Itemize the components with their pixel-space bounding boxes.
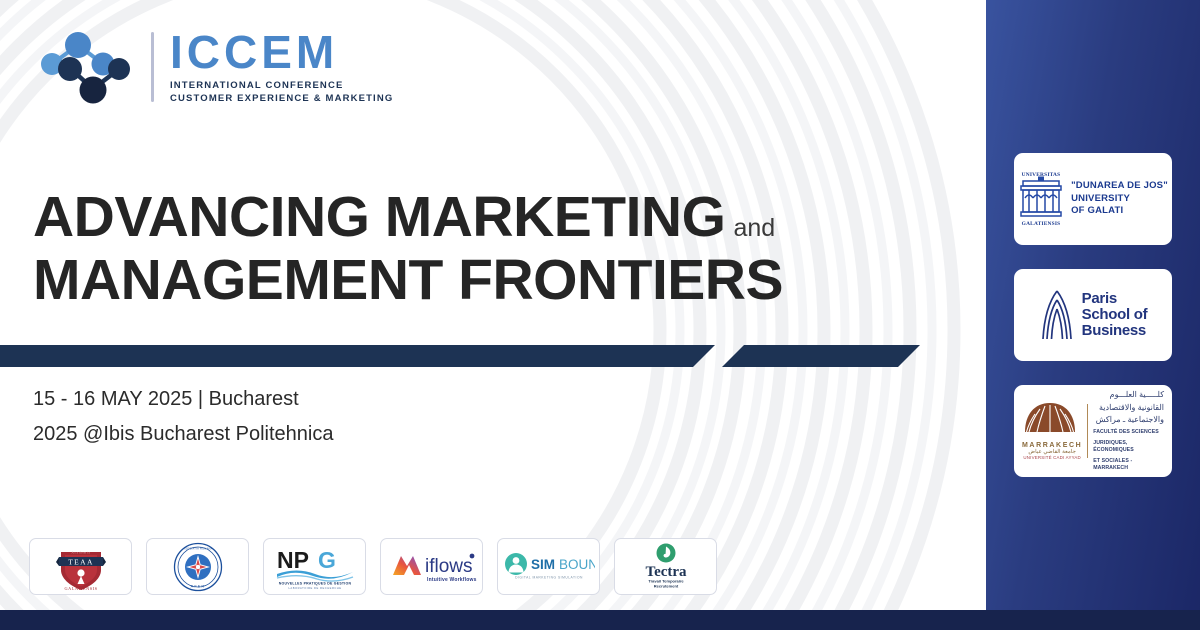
sidebar-card-faculte-marrakech[interactable]: MARRAKECH جامعة القاضي عياض UNIVERSITÉ C… (1014, 385, 1172, 477)
headline-conjunction: and (733, 214, 775, 242)
svg-text:Academia: Academia (71, 550, 90, 554)
svg-text:AFER: AFER (190, 583, 205, 588)
shield-crest-icon: TEAA Academia GALATIENSIS (53, 543, 109, 591)
svg-text:DIGITAL MARKETING SIMULATION: DIGITAL MARKETING SIMULATION (515, 575, 583, 579)
sponsor-sidebar: UNIVERSITAS (986, 0, 1200, 630)
partner-logo-afer[interactable]: AFER ASOCIATIA ROMANA (146, 538, 249, 595)
svg-text:NP: NP (277, 547, 309, 573)
marrakech-text-block: كلـــــية العلـــوم القانونية والاقتصادي… (1093, 389, 1164, 472)
galati-line-3: OF GALATI (1071, 205, 1168, 217)
marrakech-sub-french: UNIVERSITÉ CADI AYYAD (1022, 455, 1082, 461)
tectra-circle-icon: Tectra Travail Temporaire Recrutement (636, 542, 696, 592)
compass-seal-icon: AFER ASOCIATIA ROMANA (173, 542, 223, 592)
svg-text:GALATIENSIS: GALATIENSIS (64, 586, 97, 591)
svg-text:Recrutement: Recrutement (653, 583, 678, 588)
divider-bars (0, 345, 930, 367)
simbound-circle-icon: SIM BOUND DIGITAL MARKETING SIMULATION (503, 549, 595, 585)
partner-logo-teaa-galatiensis[interactable]: TEAA Academia GALATIENSIS (29, 538, 132, 595)
svg-text:G: G (318, 547, 336, 573)
event-venue: 2025 @Ibis Bucharest Politehnica (33, 417, 333, 452)
logo-divider (151, 32, 154, 102)
svg-text:NOUVELLES PRATIQUES DE GESTION: NOUVELLES PRATIQUES DE GESTION (278, 581, 351, 585)
sidebar-card-paris-school-of-business[interactable]: Paris School of Business (1014, 269, 1172, 361)
marrakech-ar-line-2: القانونية والاقتصادية (1093, 402, 1164, 414)
partner-logo-npg[interactable]: NP G NOUVELLES PRATIQUES DE GESTION LABO… (263, 538, 366, 595)
sidebar-card-dunarea-de-jos-university[interactable]: UNIVERSITAS (1014, 153, 1172, 245)
marrakech-ar-line-1: كلـــــية العلـــوم (1093, 389, 1164, 401)
event-details: 15 - 16 MAY 2025 | Bucharest 2025 @Ibis … (33, 382, 333, 452)
svg-text:Intuitive Workflows: Intuitive Workflows (427, 577, 477, 583)
svg-text:SIM: SIM (531, 557, 555, 572)
marrakech-label: MARRAKECH (1022, 442, 1082, 449)
divider-bar-left (0, 345, 715, 367)
conference-banner: ICCEM INTERNATIONAL CONFERENCE CUSTOMER … (0, 0, 1200, 630)
svg-text:iflows: iflows (425, 556, 473, 577)
arch-mark-icon (1039, 287, 1075, 343)
psb-line-2: School of (1082, 307, 1148, 323)
iccem-tagline-line1: INTERNATIONAL CONFERENCE (170, 80, 393, 93)
psb-line-1: Paris (1082, 291, 1148, 307)
marrakech-ar-line-3: والاجتماعية ـ مراكش (1093, 414, 1164, 426)
main-panel: ICCEM INTERNATIONAL CONFERENCE CUSTOMER … (0, 0, 986, 630)
headline-line-2: MANAGEMENT FRONTIERS (33, 249, 933, 312)
npg-wave-icon: NP G NOUVELLES PRATIQUES DE GESTION LABO… (273, 543, 357, 591)
partner-logo-strip: TEAA Academia GALATIENSIS (29, 538, 717, 595)
logo-text-block: ICCEM INTERNATIONAL CONFERENCE CUSTOMER … (170, 29, 393, 105)
page-title: ADVANCING MARKETINGand MANAGEMENT FRONTI… (33, 186, 933, 311)
divider-bar-right (722, 345, 920, 367)
psb-line-3: Business (1082, 323, 1148, 339)
svg-text:LABORATOIRE DE RECHERCHE: LABORATOIRE DE RECHERCHE (288, 586, 341, 590)
event-date-location: 15 - 16 MAY 2025 | Bucharest (33, 382, 333, 417)
partner-logo-simbound[interactable]: SIM BOUND DIGITAL MARKETING SIMULATION (497, 538, 600, 595)
galati-line-2: UNIVERSITY (1071, 193, 1168, 205)
galati-name-block: "DUNAREA DE JOS" UNIVERSITY OF GALATI (1071, 180, 1168, 217)
galati-line-1: "DUNAREA DE JOS" (1071, 180, 1168, 192)
marrakech-emblem-block: MARRAKECH جامعة القاضي عياض UNIVERSITÉ C… (1022, 401, 1082, 461)
marrakech-arch-icon (1022, 401, 1078, 435)
iccem-logo[interactable]: ICCEM INTERNATIONAL CONFERENCE CUSTOMER … (33, 26, 393, 108)
marrakech-fr-line-3: ET SOCIALES - MARRAKECH (1093, 458, 1164, 473)
marrakech-divider (1087, 404, 1088, 458)
headline-line-1: ADVANCING MARKETINGand (33, 186, 933, 249)
psb-name-block: Paris School of Business (1082, 291, 1148, 340)
svg-text:GALATIENSIS: GALATIENSIS (1022, 221, 1061, 227)
partner-logo-tectra[interactable]: Tectra Travail Temporaire Recrutement (614, 538, 717, 595)
svg-text:BOUND: BOUND (559, 557, 595, 572)
svg-text:ASOCIATIA ROMANA: ASOCIATIA ROMANA (183, 547, 213, 550)
marrakech-fr-line-2: JURIDIQUES, ÉCONOMIQUES (1093, 440, 1164, 455)
svg-text:TEAA: TEAA (68, 557, 94, 566)
bottom-accent-strip (0, 610, 1200, 630)
iflows-chevron-icon: iflows Intuitive Workflows (387, 547, 477, 587)
iccem-wordmark: ICCEM (170, 29, 393, 75)
university-building-emblem: UNIVERSITAS (1018, 168, 1064, 230)
marrakech-fr-line-1: FACULTÉ DES SCIENCES (1093, 429, 1164, 437)
headline-line-1-main: ADVANCING MARKETING (33, 185, 725, 249)
iccem-tagline-line2: CUSTOMER EXPERIENCE & MARKETING (170, 93, 393, 106)
partner-logo-iflows[interactable]: iflows Intuitive Workflows (380, 538, 483, 595)
network-nodes-icon (33, 26, 137, 108)
